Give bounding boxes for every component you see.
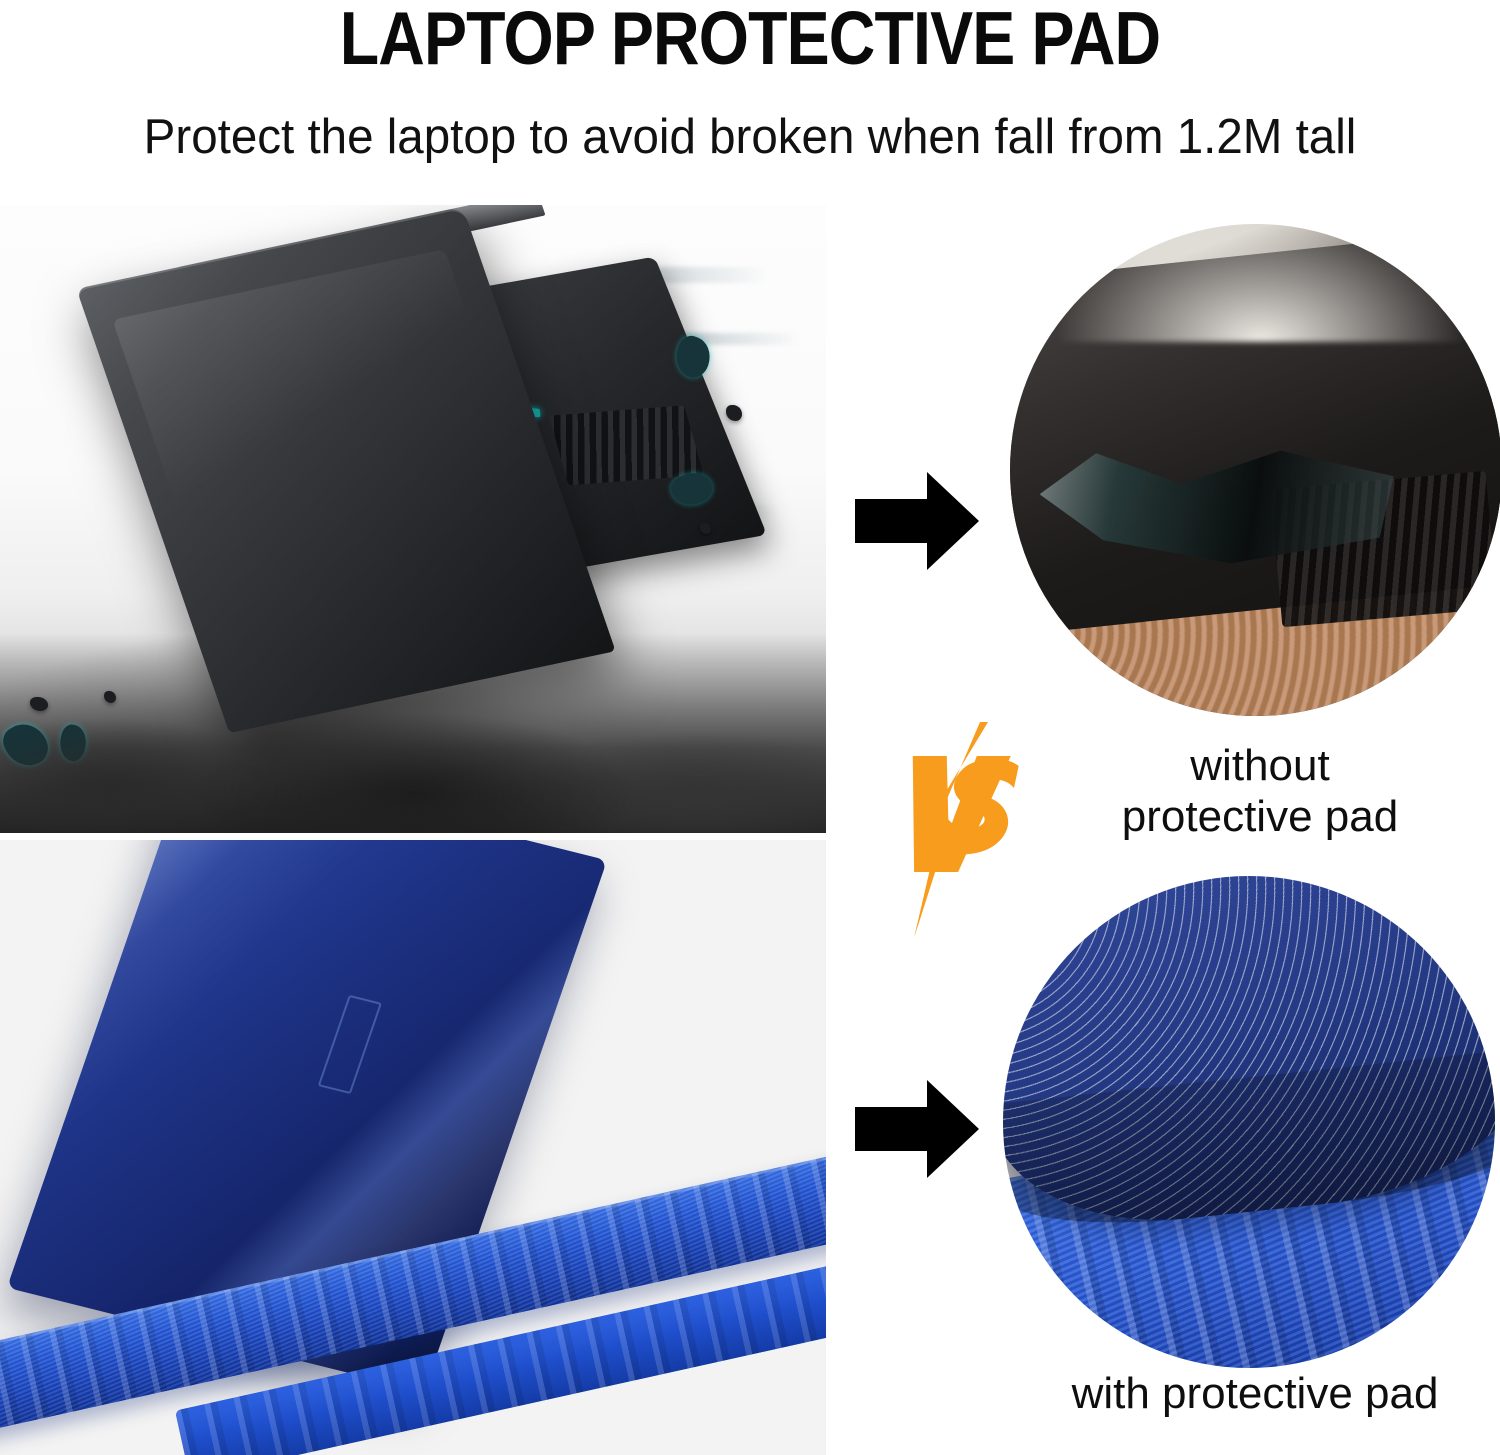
photo-damaged-laptop-corner bbox=[1010, 224, 1500, 716]
right-arrow-icon bbox=[855, 472, 979, 570]
impact-splash bbox=[0, 683, 826, 833]
photo-laptop-on-pad bbox=[0, 840, 826, 1455]
photo-highlight bbox=[1059, 224, 1462, 342]
debris-fragment bbox=[700, 523, 711, 534]
vs-badge bbox=[896, 722, 1032, 938]
debris-fragment bbox=[726, 405, 742, 421]
page-title: LAPTOP PROTECTIVE PAD bbox=[105, 0, 1395, 80]
photo-pad-closeup bbox=[1003, 876, 1495, 1368]
right-arrow-icon bbox=[855, 1080, 979, 1178]
vent-grille bbox=[549, 405, 704, 485]
page-subtitle: Protect the laptop to avoid broken when … bbox=[23, 108, 1478, 166]
caption-with-pad: with protective pad bbox=[1010, 1368, 1500, 1419]
asus-logo bbox=[317, 995, 381, 1094]
header: LAPTOP PROTECTIVE PAD Protect the laptop… bbox=[0, 0, 1500, 196]
photo-laptop-crash bbox=[0, 205, 826, 833]
caption-without-pad: without protective pad bbox=[1040, 740, 1480, 842]
navy-laptop-sleeve bbox=[1003, 876, 1495, 1238]
